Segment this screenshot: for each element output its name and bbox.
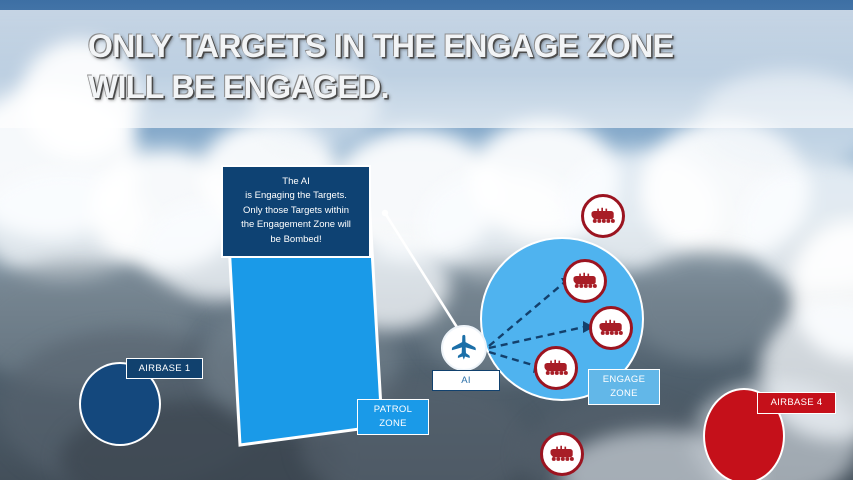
target-engaged-1[interactable] [563, 259, 607, 303]
tank-icon [589, 206, 617, 226]
fighter-jet-icon [449, 333, 479, 363]
slide-canvas: ONLY TARGETS IN THE ENGAGE ZONE WILL BE … [0, 0, 853, 480]
target-engaged-3[interactable] [534, 346, 578, 390]
label-patrol-zone[interactable]: PATROL ZONE [357, 399, 429, 435]
ai-aircraft-marker[interactable] [441, 325, 487, 371]
tank-icon [542, 358, 570, 378]
label-engage-zone[interactable]: ENGAGE ZONE [588, 369, 660, 405]
target-outside-bottom[interactable] [540, 432, 584, 476]
label-ai[interactable]: AI [432, 370, 500, 391]
target-engaged-2[interactable] [589, 306, 633, 350]
tank-icon [571, 271, 599, 291]
label-airbase-1[interactable]: AIRBASE 1 [126, 358, 203, 379]
page-title: ONLY TARGETS IN THE ENGAGE ZONE WILL BE … [88, 26, 788, 108]
target-outside-top[interactable] [581, 194, 625, 238]
tank-icon [548, 444, 576, 464]
ai-callout-box: The AI is Engaging the Targets. Only tho… [221, 165, 371, 258]
label-airbase-4[interactable]: AIRBASE 4 [757, 392, 836, 414]
tank-icon [597, 318, 625, 338]
